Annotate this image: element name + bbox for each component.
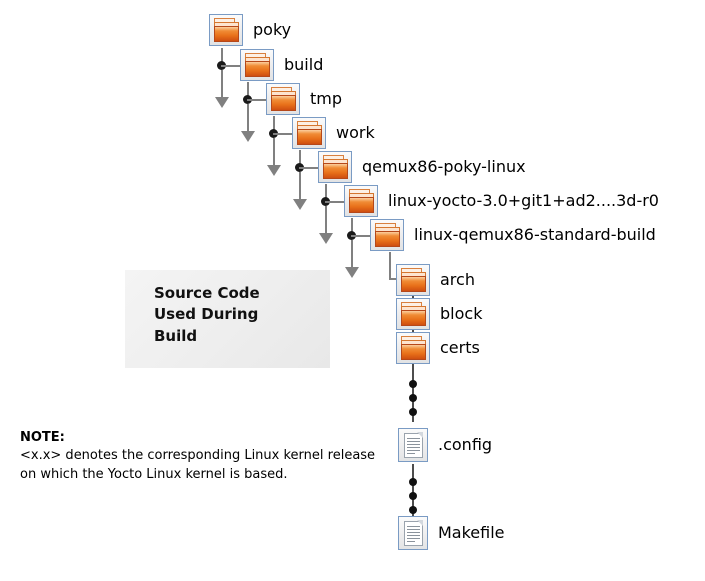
tree-node-label-build: build — [284, 57, 323, 73]
connector-tmp-stem — [273, 116, 275, 134]
junction-dot-build — [243, 95, 252, 104]
arrow-poky-down — [215, 97, 229, 108]
tree-node-certs[interactable]: certs — [396, 332, 480, 364]
ellipsis-dot-2 — [409, 394, 417, 402]
connector-build-stem — [247, 82, 249, 100]
tree-node-label-arch: arch — [440, 272, 475, 288]
ellipsis-dot-3 — [409, 408, 417, 416]
connector-poky-stem — [221, 48, 223, 66]
tree-node-build[interactable]: build — [240, 49, 323, 81]
directory-tree-diagram: poky build tmp work qemux86-poky-linux l… — [0, 0, 705, 581]
document-icon — [398, 516, 428, 550]
tree-node-label-tmp: tmp — [310, 91, 342, 107]
junction-dot-poky — [217, 61, 226, 70]
junction-dot-qemux86 — [321, 197, 330, 206]
connector-certs-to-config — [412, 364, 414, 422]
tree-node-makefile[interactable]: Makefile — [398, 516, 505, 550]
tree-node-arch[interactable]: arch — [396, 264, 475, 296]
folder-icon — [318, 151, 352, 183]
connector-qemux86-stem — [325, 184, 327, 202]
connector-poky-down — [221, 70, 223, 99]
ellipsis-dot-1 — [409, 380, 417, 388]
folder-icon — [292, 117, 326, 149]
tree-node-label-makefile: Makefile — [438, 525, 505, 541]
tree-node-config[interactable]: .config — [398, 428, 492, 462]
folder-icon — [396, 264, 430, 296]
ellipsis-dot-4 — [409, 478, 417, 486]
source-code-callout-box: Source Code Used During Build — [125, 270, 330, 368]
folder-icon — [240, 49, 274, 81]
connector-linuxyocto-down — [351, 240, 353, 269]
connector-config-to-makefile — [412, 464, 414, 518]
source-code-callout-text: Source Code Used During Build — [154, 283, 260, 347]
connector-linuxyocto-stem — [351, 218, 353, 236]
junction-dot-linuxyocto — [347, 231, 356, 240]
arrow-linuxyocto-down — [345, 267, 359, 278]
tree-node-linux-yocto[interactable]: linux-yocto-3.0+git1+ad2....3d-r0 — [344, 185, 659, 217]
ellipsis-dot-6 — [409, 506, 417, 514]
junction-dot-work — [295, 163, 304, 172]
connector-layer — [0, 0, 705, 581]
arrow-work-down — [293, 199, 307, 210]
tree-node-linux-qemux86-standard-build[interactable]: linux-qemux86-standard-build — [370, 219, 656, 251]
tree-node-tmp[interactable]: tmp — [266, 83, 342, 115]
arrow-tmp-down — [267, 165, 281, 176]
folder-icon — [396, 332, 430, 364]
ellipsis-dot-5 — [409, 492, 417, 500]
folder-icon — [396, 298, 430, 330]
connector-qemux86-down — [325, 206, 327, 235]
arrow-qemux86-down — [319, 233, 333, 244]
connector-build-down — [247, 104, 249, 133]
tree-node-label-block: block — [440, 306, 482, 322]
junction-dot-tmp — [269, 129, 278, 138]
tree-node-label-linux-yocto: linux-yocto-3.0+git1+ad2....3d-r0 — [388, 193, 659, 209]
connector-standardbuild-elbow-vertical — [389, 252, 391, 280]
tree-node-label-config: .config — [438, 437, 492, 453]
note-block: NOTE: <x.x> denotes the corresponding Li… — [20, 430, 390, 485]
folder-icon — [266, 83, 300, 115]
tree-node-label-work: work — [336, 125, 375, 141]
folder-icon — [344, 185, 378, 217]
folder-icon — [370, 219, 404, 251]
connector-work-stem — [299, 150, 301, 168]
tree-node-poky[interactable]: poky — [209, 14, 291, 46]
tree-node-block[interactable]: block — [396, 298, 482, 330]
connector-work-down — [299, 172, 301, 201]
folder-icon — [209, 14, 243, 46]
document-icon — [398, 428, 428, 462]
tree-node-label-certs: certs — [440, 340, 480, 356]
arrow-build-down — [241, 131, 255, 142]
tree-node-label-linux-qemux86-standard-build: linux-qemux86-standard-build — [414, 227, 656, 243]
tree-node-work[interactable]: work — [292, 117, 375, 149]
note-title: NOTE: — [20, 430, 390, 445]
tree-node-qemux86-poky-linux[interactable]: qemux86-poky-linux — [318, 151, 526, 183]
tree-node-label-qemux86-poky-linux: qemux86-poky-linux — [362, 159, 526, 175]
note-body: <x.x> denotes the corresponding Linux ke… — [20, 447, 390, 485]
tree-node-label-poky: poky — [253, 22, 291, 38]
connector-tmp-down — [273, 138, 275, 167]
